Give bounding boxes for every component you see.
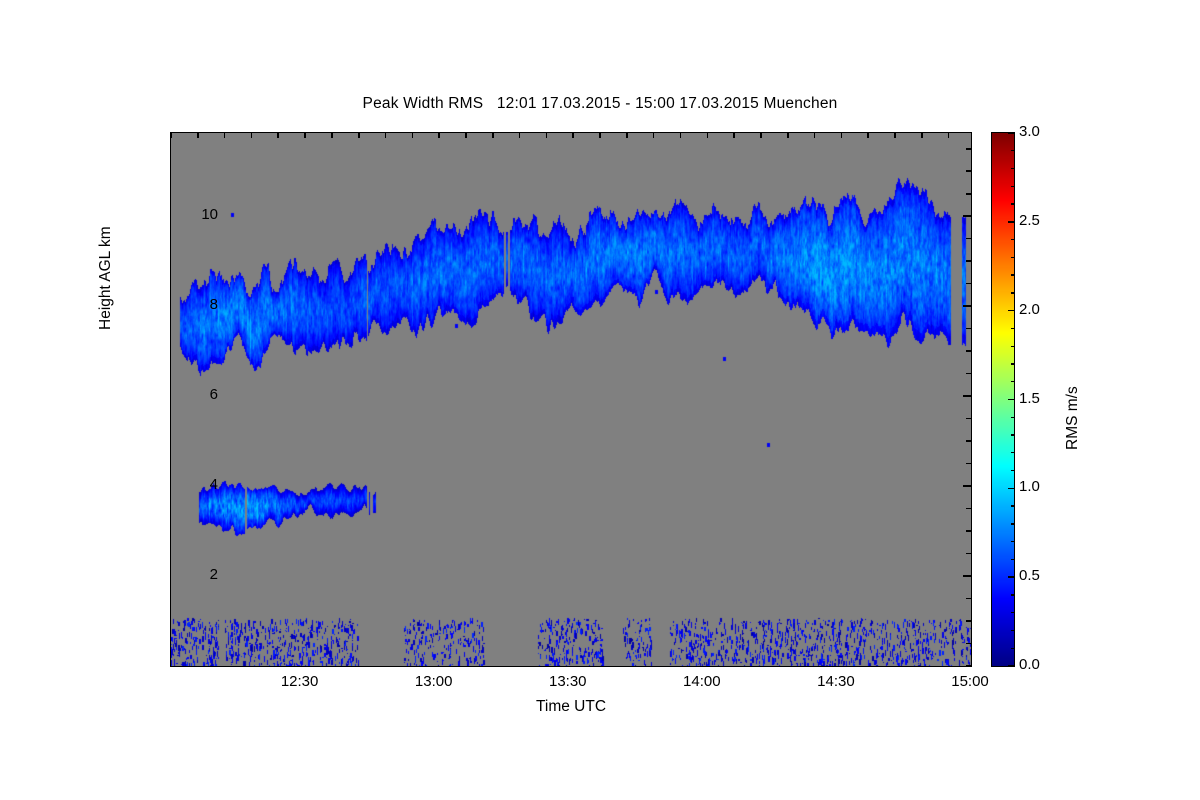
x-tick-minor bbox=[492, 666, 494, 667]
y-tick-minor bbox=[170, 328, 171, 330]
x-tick-minor bbox=[304, 666, 306, 667]
y-tick-minor bbox=[170, 643, 171, 645]
colorbar-tick-major bbox=[1008, 221, 1014, 222]
x-tick-label: 13:30 bbox=[549, 674, 587, 689]
y-tick-minor bbox=[170, 283, 171, 285]
y-tick-minor bbox=[170, 463, 171, 465]
x-tick-label: 15:00 bbox=[951, 674, 989, 689]
x-tick-top bbox=[358, 133, 360, 138]
x-tick-top bbox=[948, 133, 950, 138]
x-tick-top bbox=[814, 133, 816, 138]
y-tick-major bbox=[170, 575, 171, 577]
colorbar-tick-minor bbox=[1011, 452, 1014, 453]
x-tick-minor bbox=[385, 666, 387, 667]
y-tick-right bbox=[963, 305, 971, 307]
colorbar-tick-minor bbox=[1011, 363, 1014, 364]
x-tick-top bbox=[331, 133, 333, 138]
colorbar-tick-major bbox=[1008, 488, 1014, 489]
colorbar-tick-minor bbox=[1011, 381, 1014, 382]
colorbar-tick-minor bbox=[1011, 594, 1014, 595]
y-tick-minor bbox=[170, 193, 171, 195]
x-tick-top bbox=[519, 133, 521, 138]
x-tick-minor bbox=[546, 666, 548, 667]
y-tick-right bbox=[966, 508, 971, 510]
colorbar-tick-minor bbox=[1011, 541, 1014, 542]
x-tick-minor bbox=[224, 666, 226, 667]
x-tick-minor bbox=[894, 666, 896, 667]
x-tick-minor bbox=[331, 666, 333, 667]
colorbar-tick-label: 1.0 bbox=[1019, 479, 1040, 494]
colorbar-tick-minor bbox=[1011, 417, 1014, 418]
colorbar-tick-minor bbox=[1011, 168, 1014, 169]
y-tick-right bbox=[966, 260, 971, 262]
y-tick-minor bbox=[170, 553, 171, 555]
y-tick-right bbox=[966, 170, 971, 172]
colorbar-tick-minor bbox=[1011, 274, 1014, 275]
x-tick-label: 14:30 bbox=[817, 674, 855, 689]
colorbar-tick-major bbox=[1008, 310, 1014, 311]
x-tick-minor bbox=[465, 666, 467, 667]
x-axis-label: Time UTC bbox=[170, 698, 972, 716]
y-tick-label: 4 bbox=[210, 477, 218, 492]
y-tick-right bbox=[966, 463, 971, 465]
y-tick-right bbox=[966, 283, 971, 285]
y-tick-minor bbox=[170, 350, 171, 352]
y-tick-minor bbox=[170, 418, 171, 420]
y-tick-label: 2 bbox=[210, 567, 218, 582]
y-tick-label: 8 bbox=[210, 297, 218, 312]
y-tick-label: 6 bbox=[210, 387, 218, 402]
x-tick-minor bbox=[626, 666, 628, 667]
colorbar-tick-minor bbox=[1011, 470, 1014, 471]
colorbar-tick-minor bbox=[1011, 292, 1014, 293]
x-tick-minor bbox=[814, 666, 816, 667]
x-tick-top bbox=[867, 133, 869, 138]
y-tick-minor bbox=[170, 260, 171, 262]
colorbar-tick-minor bbox=[1011, 523, 1014, 524]
x-tick-top bbox=[438, 133, 440, 138]
x-tick-top bbox=[626, 133, 628, 138]
y-tick-major bbox=[170, 395, 171, 397]
x-tick-top bbox=[304, 133, 306, 138]
x-tick-minor bbox=[251, 666, 253, 667]
y-tick-right bbox=[966, 665, 971, 667]
y-tick-major bbox=[170, 215, 171, 217]
y-tick-major bbox=[170, 305, 171, 307]
colorbar-tick-minor bbox=[1011, 648, 1014, 649]
x-tick-minor bbox=[707, 666, 709, 667]
x-tick-minor bbox=[948, 666, 950, 667]
colorbar-tick-minor bbox=[1011, 346, 1014, 347]
y-tick-minor bbox=[170, 620, 171, 622]
colorbar-tick-minor bbox=[1011, 257, 1014, 258]
x-tick-minor bbox=[787, 666, 789, 667]
x-tick-top bbox=[385, 133, 387, 138]
x-tick-minor bbox=[841, 666, 843, 667]
x-tick-label: 12:30 bbox=[281, 674, 319, 689]
y-tick-right bbox=[966, 193, 971, 195]
y-tick-right bbox=[966, 328, 971, 330]
x-tick-top bbox=[197, 133, 199, 138]
y-tick-right bbox=[966, 598, 971, 600]
y-tick-right bbox=[966, 418, 971, 420]
x-tick-minor bbox=[358, 666, 360, 667]
y-tick-right bbox=[963, 485, 971, 487]
x-tick-top bbox=[653, 133, 655, 138]
colorbar-tick-label: 3.0 bbox=[1019, 124, 1040, 139]
colorbar-tick-minor bbox=[1011, 505, 1014, 506]
colorbar-tick-minor bbox=[1011, 150, 1014, 151]
y-tick-right bbox=[966, 553, 971, 555]
y-tick-right bbox=[966, 643, 971, 645]
x-tick-minor bbox=[680, 666, 682, 667]
x-tick-top bbox=[224, 133, 226, 138]
x-tick-minor bbox=[412, 666, 414, 667]
y-tick-right bbox=[966, 373, 971, 375]
x-tick-top bbox=[680, 133, 682, 138]
y-tick-right bbox=[966, 440, 971, 442]
y-tick-minor bbox=[170, 148, 171, 150]
x-tick-top bbox=[572, 133, 574, 138]
x-tick-minor bbox=[921, 666, 923, 667]
x-tick-top bbox=[707, 133, 709, 138]
y-tick-minor bbox=[170, 530, 171, 532]
x-tick-minor bbox=[653, 666, 655, 667]
x-tick-top bbox=[412, 133, 414, 138]
y-tick-right bbox=[963, 395, 971, 397]
colorbar-tick-label: 1.5 bbox=[1019, 391, 1040, 406]
x-tick-top bbox=[921, 133, 923, 138]
y-tick-label: 10 bbox=[201, 207, 218, 222]
y-axis-label: Height AGL km bbox=[97, 226, 115, 330]
y-tick-minor bbox=[170, 373, 171, 375]
plot-area[interactable] bbox=[170, 132, 972, 667]
x-tick-top bbox=[465, 133, 467, 138]
x-tick-top bbox=[599, 133, 601, 138]
colorbar-tick-minor bbox=[1011, 328, 1014, 329]
colorbar-tick-label: 0.0 bbox=[1019, 657, 1040, 672]
y-tick-right bbox=[963, 575, 971, 577]
x-tick-minor bbox=[170, 666, 172, 667]
x-tick-minor bbox=[197, 666, 199, 667]
x-tick-minor bbox=[760, 666, 762, 667]
chart-title: Peak Width RMS 12:01 17.03.2015 - 15:00 … bbox=[0, 95, 1200, 113]
x-tick-top bbox=[841, 133, 843, 138]
x-tick-top bbox=[733, 133, 735, 138]
colorbar-tick-minor bbox=[1011, 186, 1014, 187]
x-tick-top bbox=[894, 133, 896, 138]
colorbar-tick-minor bbox=[1011, 239, 1014, 240]
x-tick-label: 14:00 bbox=[683, 674, 721, 689]
colorbar-tick-major bbox=[1008, 576, 1014, 577]
colorbar-tick-major bbox=[1008, 399, 1014, 400]
x-tick-minor bbox=[572, 666, 574, 667]
y-tick-minor bbox=[170, 598, 171, 600]
colorbar-tick-major bbox=[1008, 132, 1014, 133]
y-tick-right bbox=[966, 620, 971, 622]
x-tick-top bbox=[492, 133, 494, 138]
colorbar-label: RMS m/s bbox=[1064, 386, 1082, 450]
x-tick-top bbox=[760, 133, 762, 138]
colorbar-tick-minor bbox=[1011, 559, 1014, 560]
colorbar-tick-major bbox=[1008, 665, 1014, 666]
y-tick-right bbox=[966, 148, 971, 150]
x-tick-minor bbox=[277, 666, 279, 667]
y-tick-right bbox=[966, 530, 971, 532]
x-tick-top bbox=[277, 133, 279, 138]
heatmap-data-layer bbox=[171, 133, 971, 666]
x-tick-top bbox=[787, 133, 789, 138]
colorbar-tick-label: 0.5 bbox=[1019, 568, 1040, 583]
x-tick-minor bbox=[867, 666, 869, 667]
colorbar-tick-label: 2.0 bbox=[1019, 302, 1040, 317]
x-tick-minor bbox=[599, 666, 601, 667]
x-tick-minor bbox=[733, 666, 735, 667]
colorbar-tick-minor bbox=[1011, 612, 1014, 613]
y-tick-right bbox=[966, 238, 971, 240]
x-tick-top bbox=[251, 133, 253, 138]
y-tick-minor bbox=[170, 238, 171, 240]
x-tick-label: 13:00 bbox=[415, 674, 453, 689]
colorbar-tick-label: 2.5 bbox=[1019, 213, 1040, 228]
y-tick-right bbox=[966, 350, 971, 352]
colorbar-tick-minor bbox=[1011, 630, 1014, 631]
y-tick-minor bbox=[170, 508, 171, 510]
colorbar-tick-minor bbox=[1011, 203, 1014, 204]
x-tick-top bbox=[546, 133, 548, 138]
x-tick-minor bbox=[519, 666, 521, 667]
y-tick-minor bbox=[170, 170, 171, 172]
x-tick-top bbox=[170, 133, 172, 138]
y-tick-minor bbox=[170, 440, 171, 442]
x-tick-minor bbox=[438, 666, 440, 667]
y-tick-major bbox=[170, 485, 171, 487]
figure-canvas: Peak Width RMS 12:01 17.03.2015 - 15:00 … bbox=[0, 0, 1200, 800]
colorbar[interactable] bbox=[991, 132, 1015, 667]
y-tick-right bbox=[963, 215, 971, 217]
colorbar-tick-minor bbox=[1011, 434, 1014, 435]
